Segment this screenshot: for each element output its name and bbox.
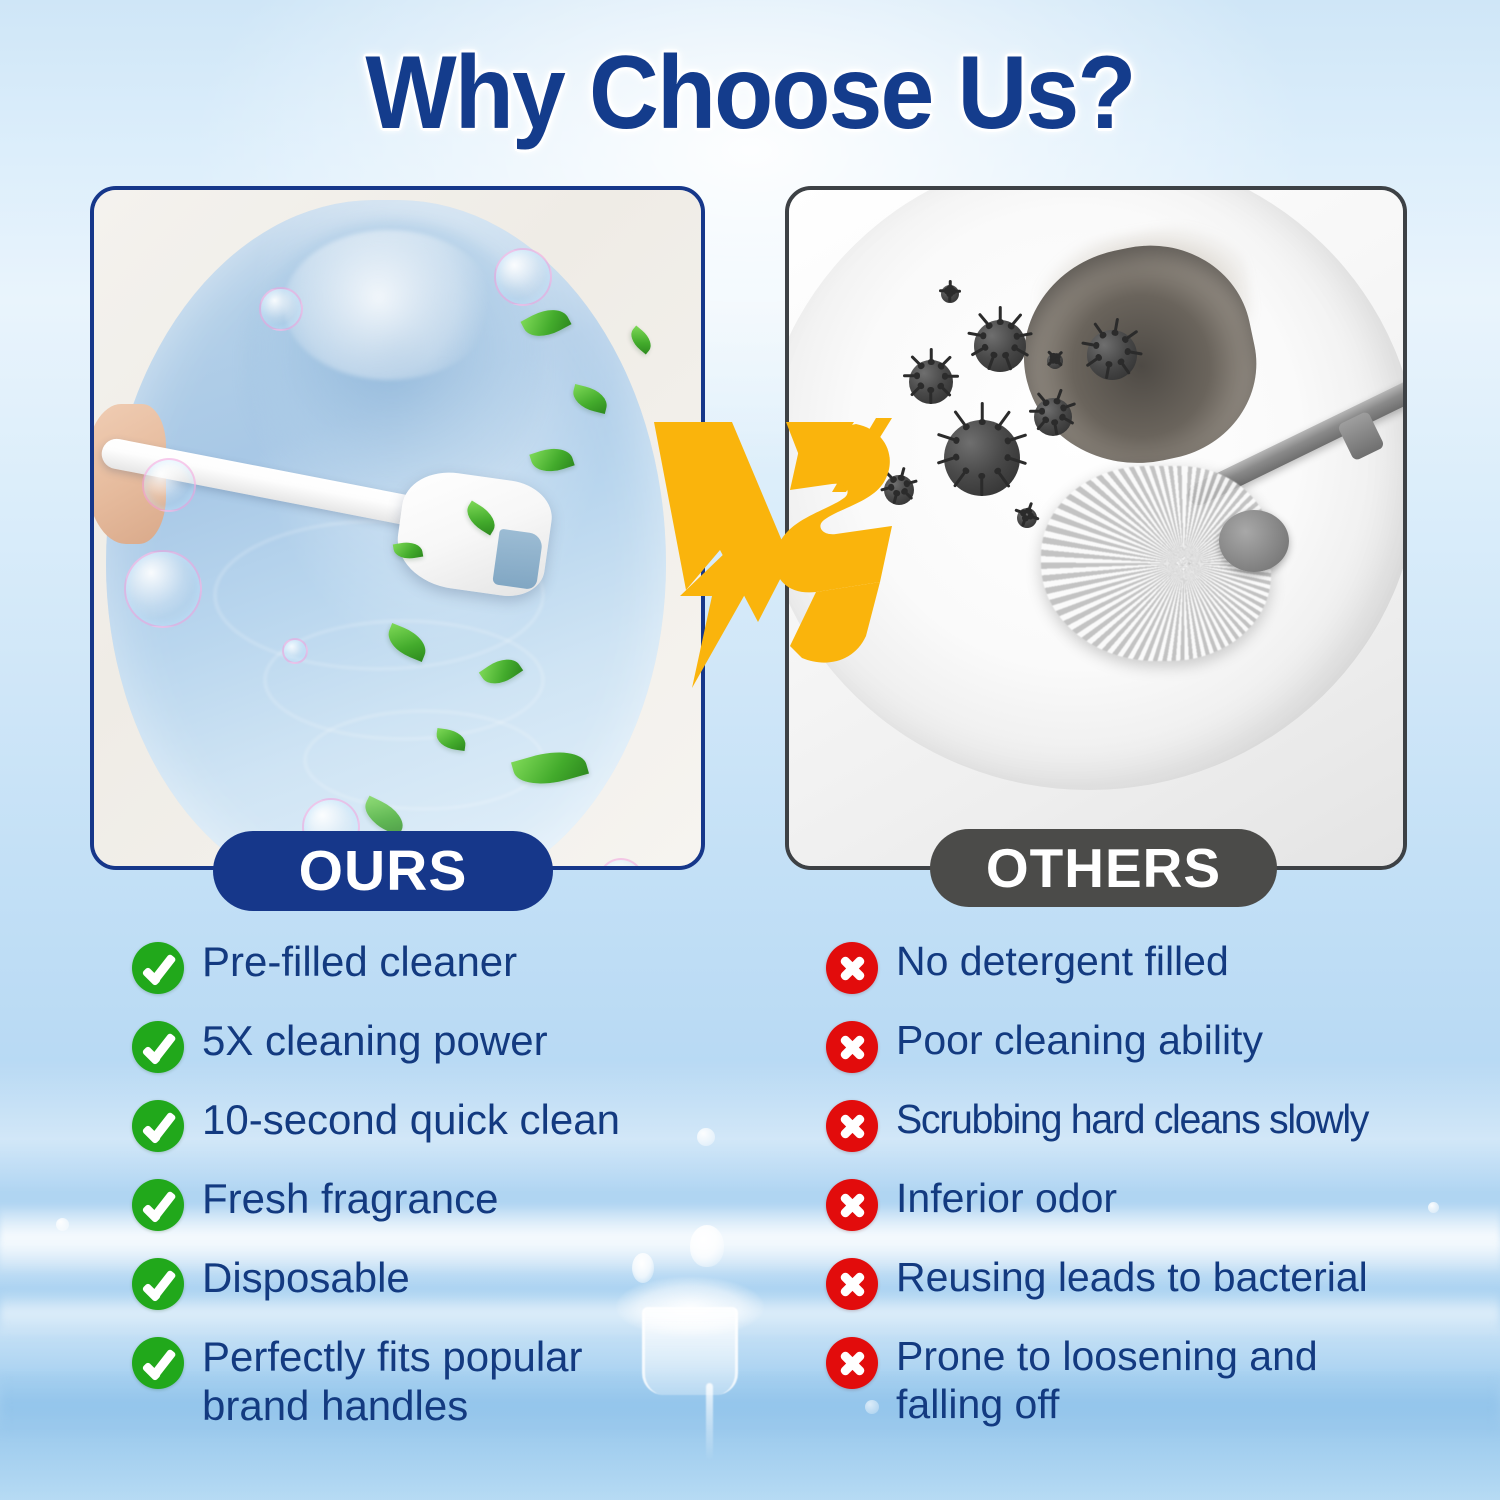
soap-bubble-3	[259, 287, 303, 331]
others-feature-label: Scrubbing hard cleans slowly	[896, 1096, 1368, 1144]
list-item: 10-second quick clean	[132, 1096, 752, 1152]
check-icon	[132, 1337, 184, 1389]
list-item: No detergent filled	[826, 938, 1466, 994]
cross-icon	[826, 1337, 878, 1389]
cross-icon	[826, 1258, 878, 1310]
cross-icon	[826, 942, 878, 994]
others-feature-list: No detergent filled Poor cleaning abilit…	[826, 938, 1466, 1428]
germ-5	[1034, 398, 1072, 436]
list-item: Prone to loosening and falling off	[826, 1333, 1466, 1428]
water-ripple-ring-3	[304, 710, 544, 810]
ours-feature-label: Disposable	[202, 1254, 410, 1303]
check-icon	[132, 942, 184, 994]
soap-bubble-1	[142, 458, 196, 512]
cross-icon	[826, 1179, 878, 1231]
others-photo	[789, 190, 1403, 866]
soap-bubble-4	[494, 248, 552, 306]
others-feature-label: Inferior odor	[896, 1175, 1117, 1223]
germ-1	[909, 360, 953, 404]
germ-4	[944, 420, 1020, 496]
cross-icon	[826, 1100, 878, 1152]
list-item: Pre-filled cleaner	[132, 938, 752, 994]
ours-feature-label: 5X cleaning power	[202, 1017, 548, 1066]
ours-photo	[94, 190, 701, 866]
list-item: Inferior odor	[826, 1175, 1466, 1231]
ours-feature-label: Perfectly fits popular brand handles	[202, 1333, 632, 1430]
others-badge-label: OTHERS	[986, 836, 1221, 900]
others-feature-label: Prone to loosening and falling off	[896, 1333, 1346, 1428]
germ-6	[884, 475, 914, 505]
germ-9	[1017, 508, 1037, 528]
list-item: Scrubbing hard cleans slowly	[826, 1096, 1466, 1152]
check-icon	[132, 1100, 184, 1152]
list-item: Reusing leads to bacterial	[826, 1254, 1466, 1310]
foam-patch	[284, 230, 494, 380]
ours-feature-label: 10-second quick clean	[202, 1096, 620, 1145]
soap-bubble-5	[282, 638, 308, 664]
soap-bubble-6	[598, 858, 644, 870]
check-icon	[132, 1258, 184, 1310]
list-item: Perfectly fits popular brand handles	[132, 1333, 752, 1430]
others-feature-label: Reusing leads to bacterial	[896, 1254, 1368, 1302]
others-badge: OTHERS	[930, 829, 1277, 907]
bubble-small-2	[56, 1218, 69, 1231]
check-icon	[132, 1021, 184, 1073]
germ-2	[974, 320, 1026, 372]
list-item: 5X cleaning power	[132, 1017, 752, 1073]
ours-feature-label: Pre-filled cleaner	[202, 938, 517, 987]
germ-8	[1047, 353, 1063, 369]
mint-leaf-11	[626, 326, 656, 355]
others-feature-label: No detergent filled	[896, 938, 1229, 986]
ours-feature-label: Fresh fragrance	[202, 1175, 498, 1224]
brush-head-hub	[1219, 510, 1289, 572]
others-image-panel	[785, 186, 1407, 870]
germ-3	[1087, 330, 1137, 380]
soap-bubble-2	[124, 550, 202, 628]
ours-badge-label: OURS	[299, 838, 468, 904]
infographic-page: Why Choose Us?	[0, 0, 1500, 1500]
list-item: Disposable	[132, 1254, 752, 1310]
germ-7	[941, 285, 959, 303]
ours-image-panel	[90, 186, 705, 870]
others-feature-label: Poor cleaning ability	[896, 1017, 1263, 1065]
ours-badge: OURS	[213, 831, 553, 911]
check-icon	[132, 1179, 184, 1231]
list-item: Fresh fragrance	[132, 1175, 752, 1231]
list-item: Poor cleaning ability	[826, 1017, 1466, 1073]
ours-feature-list: Pre-filled cleaner 5X cleaning power 10-…	[132, 938, 752, 1430]
page-title: Why Choose Us?	[53, 34, 1448, 153]
cross-icon	[826, 1021, 878, 1073]
